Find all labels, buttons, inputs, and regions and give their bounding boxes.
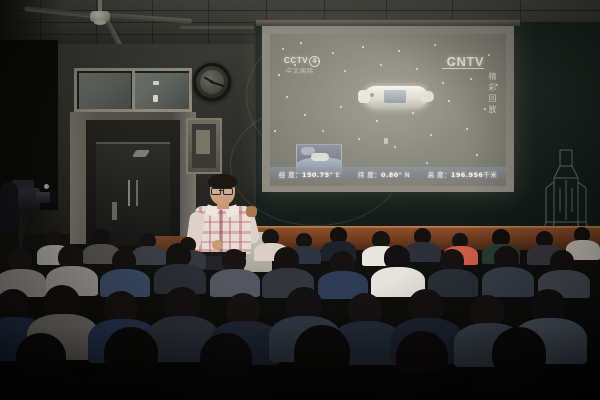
telemetry-latitude-unit: ° N [399, 171, 410, 179]
distant-object [384, 138, 388, 144]
cntv-logo-underline [442, 68, 484, 69]
telemetry-altitude: 高 度：196.956千米 [428, 169, 497, 179]
projection-screen: CCTV4 中文国际 CNTV 精彩回放 经 度：150.75° E 纬 度 [262, 26, 514, 192]
program-tag-label: 精彩回放 [487, 72, 498, 116]
telemetry-longitude-value: 150.75 [302, 171, 329, 179]
telemetry-latitude-label: 纬 度： [358, 171, 381, 179]
telemetry-latitude-value: 0.80 [381, 171, 399, 179]
wall-notice-board [186, 118, 222, 174]
cctv-channel-subtitle: 中文国际 [286, 66, 314, 75]
audience [0, 215, 600, 400]
cntv-logo: CNTV [447, 54, 484, 69]
transom-window [74, 68, 192, 112]
telemetry-altitude-label: 高 度： [428, 171, 451, 179]
spacecraft-module [358, 82, 436, 112]
camera-tally-light [44, 184, 49, 189]
broadcast-image: CCTV4 中文国际 CNTV 精彩回放 经 度：150.75° E 纬 度 [270, 34, 506, 186]
telemetry-longitude: 经 度：150.75° E [279, 169, 340, 179]
telemetry-longitude-unit: ° E [330, 171, 341, 179]
telemetry-altitude-unit: 千米 [483, 171, 497, 179]
ceiling-fan-icon [82, 0, 118, 30]
telemetry-longitude-label: 经 度： [279, 171, 302, 179]
cctv-wordmark: CCTV [284, 56, 308, 65]
telemetry-bar: 经 度：150.75° E 纬 度：0.80° N 高 度：196.956千米 [270, 167, 506, 180]
telemetry-altitude-value: 196.956 [451, 171, 483, 179]
telemetry-latitude: 纬 度：0.80° N [358, 169, 410, 179]
screenshot-root: 筑 梦 航 情 [0, 0, 600, 400]
lecture-hall-scene: 筑 梦 航 情 [0, 0, 600, 400]
eyeglasses-icon [223, 188, 233, 195]
wall-clock-icon [193, 63, 231, 101]
